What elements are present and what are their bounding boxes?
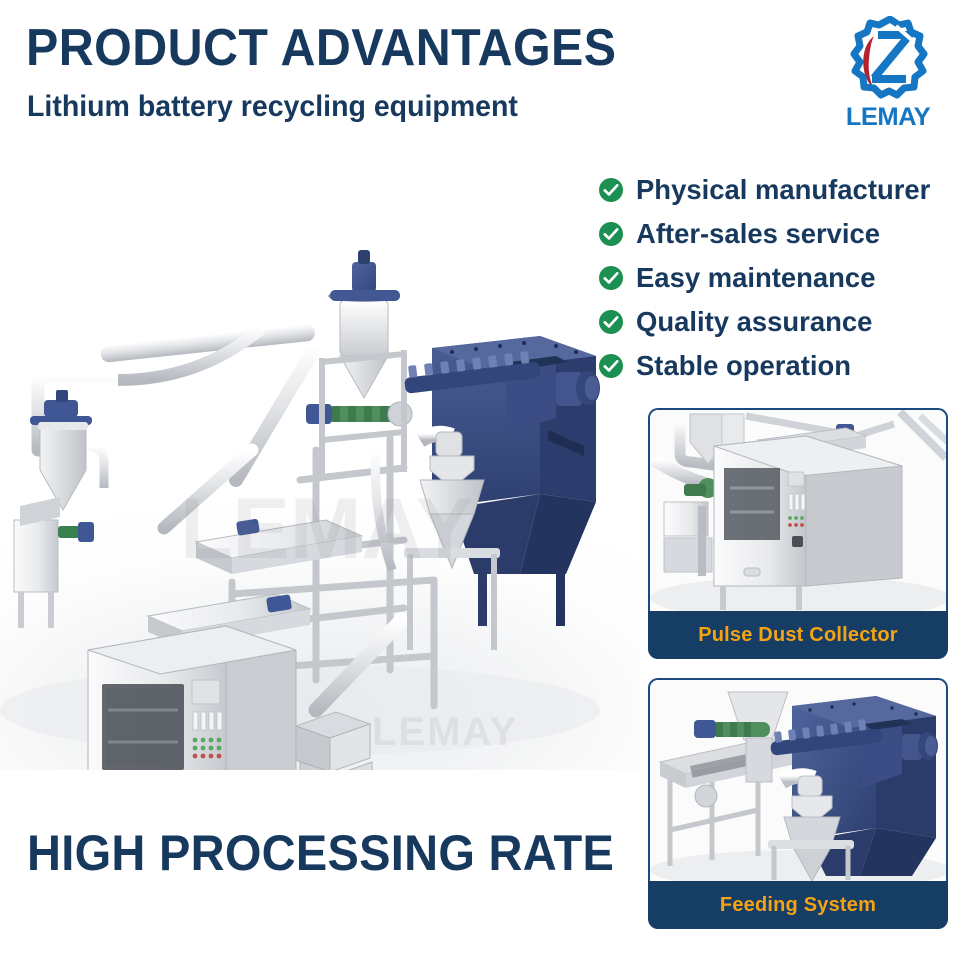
advantage-label: Quality assurance [636,308,872,336]
gear-z-logo-icon [844,16,936,104]
advantages-list: Physical manufacturer After-sales servic… [598,168,960,388]
list-item: Physical manufacturer [598,168,960,212]
brand-name: LEMAY [831,103,945,132]
list-item: Quality assurance [598,300,960,344]
card-image [648,408,948,611]
advantage-label: Physical manufacturer [636,176,930,204]
brand-logo: LEMAY [832,16,944,134]
list-item: Easy maintenance [598,256,960,300]
advantage-label: Stable operation [636,352,851,380]
feature-card-pulse-dust-collector[interactable]: Pulse Dust Collector [648,408,948,659]
card-image [648,678,948,881]
page-title: PRODUCT ADVANTAGES [26,22,616,74]
page-header: PRODUCT ADVANTAGES Lithium battery recyc… [0,0,960,150]
advantage-label: Easy maintenance [636,264,875,292]
footer-headline: HIGH PROCESSING RATE [27,828,614,878]
advantages-banner: PRODUCT ADVANTAGES Lithium battery recyc… [0,0,960,960]
list-item: Stable operation [598,344,960,388]
check-circle-icon [598,177,624,203]
check-circle-icon [598,309,624,335]
check-circle-icon [598,353,624,379]
check-circle-icon [598,221,624,247]
check-circle-icon [598,265,624,291]
card-caption: Feeding System [648,881,948,929]
recycling-line-illustration [0,150,640,770]
hero-product-image: LEMAY LEMAY [0,150,640,770]
card-caption: Pulse Dust Collector [648,611,948,659]
feature-card-feeding-system[interactable]: Feeding System [648,678,948,929]
page-subtitle: Lithium battery recycling equipment [27,92,518,122]
advantage-label: After-sales service [636,220,880,248]
list-item: After-sales service [598,212,960,256]
